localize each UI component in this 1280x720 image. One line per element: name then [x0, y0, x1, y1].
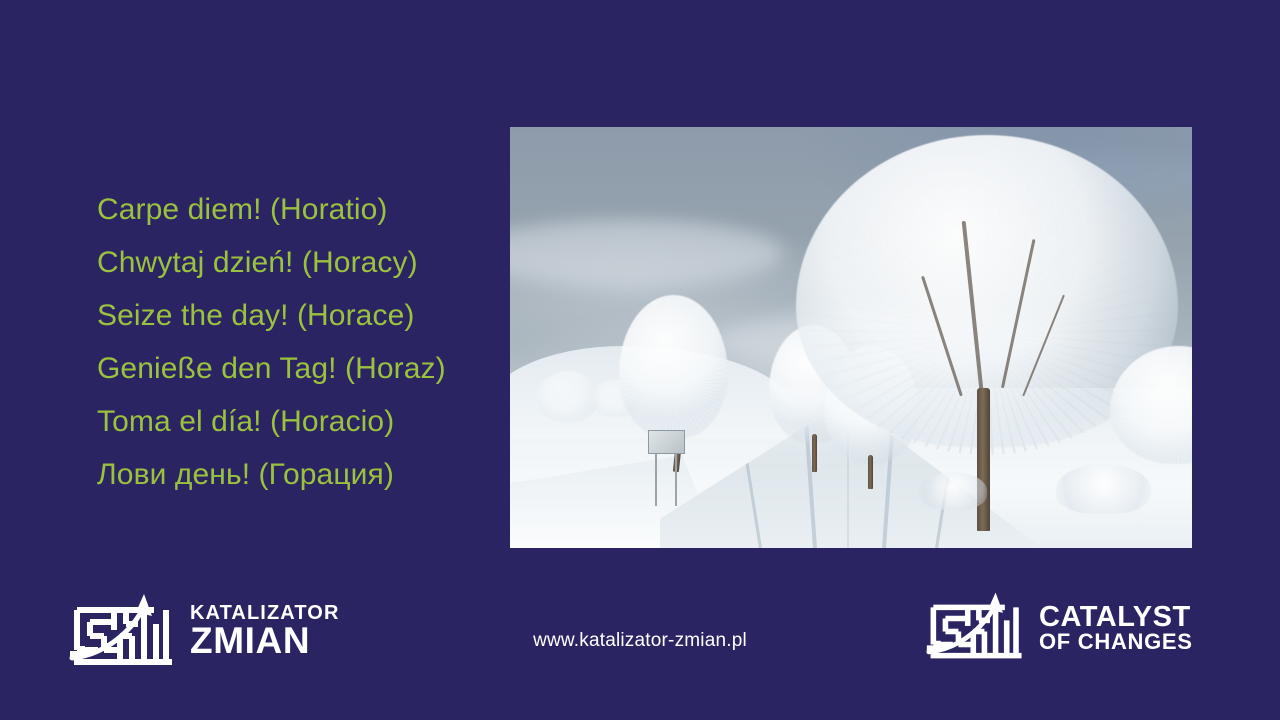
tree-trunk [868, 455, 873, 489]
maze-growth-arrow-icon [925, 588, 1029, 667]
frost-tree [619, 295, 728, 438]
quote-list: Carpe diem! (Horatio) Chwytaj dzień! (Ho… [97, 183, 497, 501]
tree-trunk [812, 434, 817, 472]
logo-word-bottom: OF CHANGES [1039, 631, 1193, 652]
logo-wordmark: KATALIZATOR ZMIAN [190, 604, 339, 659]
logo-word-bottom: ZMIAN [190, 623, 339, 659]
photo-content [510, 127, 1192, 548]
snow-bush [1056, 464, 1151, 515]
tree-trunk-main [977, 388, 990, 531]
background-tree [537, 371, 598, 422]
snow-bush [919, 472, 987, 510]
logo-katalizator-zmian[interactable]: KATALIZATOR ZMIAN [68, 590, 339, 673]
quote-line: Seize the day! (Horace) [97, 289, 497, 342]
quote-line: Genieße den Tag! (Horaz) [97, 342, 497, 395]
quote-line: Лови день! (Горация) [97, 448, 497, 501]
logo-wordmark: CATALYST OF CHANGES [1039, 603, 1193, 652]
quote-line: Chwytaj dzień! (Horacy) [97, 236, 497, 289]
winter-road-photo [510, 127, 1192, 548]
sign-post [675, 447, 677, 506]
slide-canvas: Carpe diem! (Horatio) Chwytaj dzień! (Ho… [0, 0, 1280, 720]
logo-word-top: CATALYST [1039, 603, 1193, 631]
sign-post [655, 447, 657, 506]
quote-line: Toma el día! (Horacio) [97, 395, 497, 448]
logo-catalyst-of-changes[interactable]: CATALYST OF CHANGES [925, 588, 1193, 667]
road-sign-board [648, 430, 685, 454]
maze-growth-arrow-icon [68, 590, 180, 673]
quote-line: Carpe diem! (Horatio) [97, 183, 497, 236]
